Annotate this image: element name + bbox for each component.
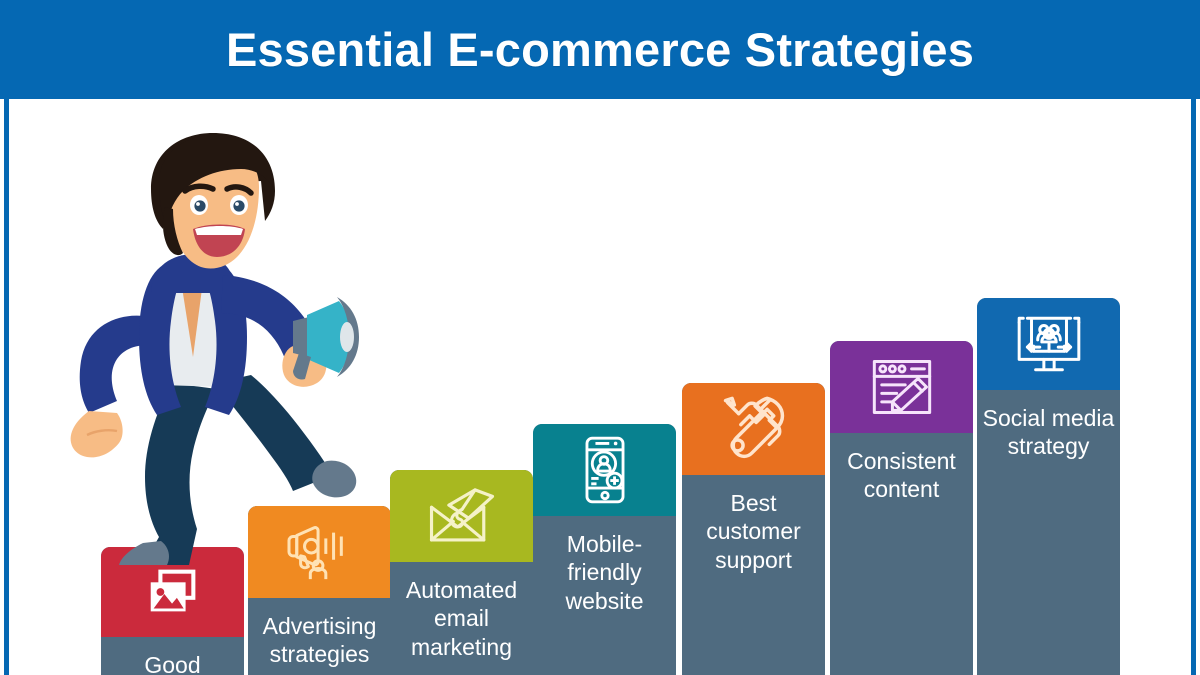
browser-pencil-icon <box>869 357 935 417</box>
bar-label-3: Automated email marketing <box>394 576 530 675</box>
staircase-bar-6[interactable]: Consistent content <box>830 341 973 675</box>
bar-body-1: Good <box>101 637 244 675</box>
businessman-with-megaphone-illustration <box>47 125 377 565</box>
bar-label-5: Best customer support <box>686 489 822 675</box>
staircase-bar-1[interactable]: Good <box>101 547 244 675</box>
bar-head-4 <box>533 424 676 516</box>
wrench-screwdriver-icon <box>719 394 789 464</box>
bar-body-7: Social media strategy <box>977 390 1120 675</box>
bar-head-3 <box>390 470 533 562</box>
bar-head-6 <box>830 341 973 433</box>
infographic-root: Essential E-commerce Strategies Good Adv… <box>0 0 1200 675</box>
bar-body-6: Consistent content <box>830 433 973 675</box>
bar-body-2: Advertising strategies <box>248 598 391 675</box>
mobile-phone-user-icon <box>581 435 629 505</box>
bar-head-7 <box>977 298 1120 390</box>
bar-head-5 <box>682 383 825 475</box>
bar-body-5: Best customer support <box>682 475 825 675</box>
chart-canvas: Good Advertising strategies Automated em… <box>4 99 1196 675</box>
staircase-bar-7[interactable]: Social media strategy <box>977 298 1120 675</box>
bar-label-1: Good <box>105 651 241 675</box>
monitor-social-network-icon <box>1013 312 1085 376</box>
staircase-bar-3[interactable]: Automated email marketing <box>390 470 533 675</box>
page-title: Essential E-commerce Strategies <box>226 26 974 73</box>
header-band: Essential E-commerce Strategies <box>0 0 1200 99</box>
bar-label-7: Social media strategy <box>981 404 1117 675</box>
bar-body-3: Automated email marketing <box>390 562 533 675</box>
staircase-bar-4[interactable]: Mobile-friendly website <box>533 424 676 675</box>
bar-label-2: Advertising strategies <box>252 612 388 675</box>
email-paper-plane-icon <box>425 485 499 547</box>
bar-label-4: Mobile-friendly website <box>537 530 673 675</box>
staircase-bar-5[interactable]: Best customer support <box>682 383 825 675</box>
image-gallery-icon <box>142 561 204 623</box>
bar-body-4: Mobile-friendly website <box>533 516 676 675</box>
bar-label-6: Consistent content <box>834 447 970 675</box>
